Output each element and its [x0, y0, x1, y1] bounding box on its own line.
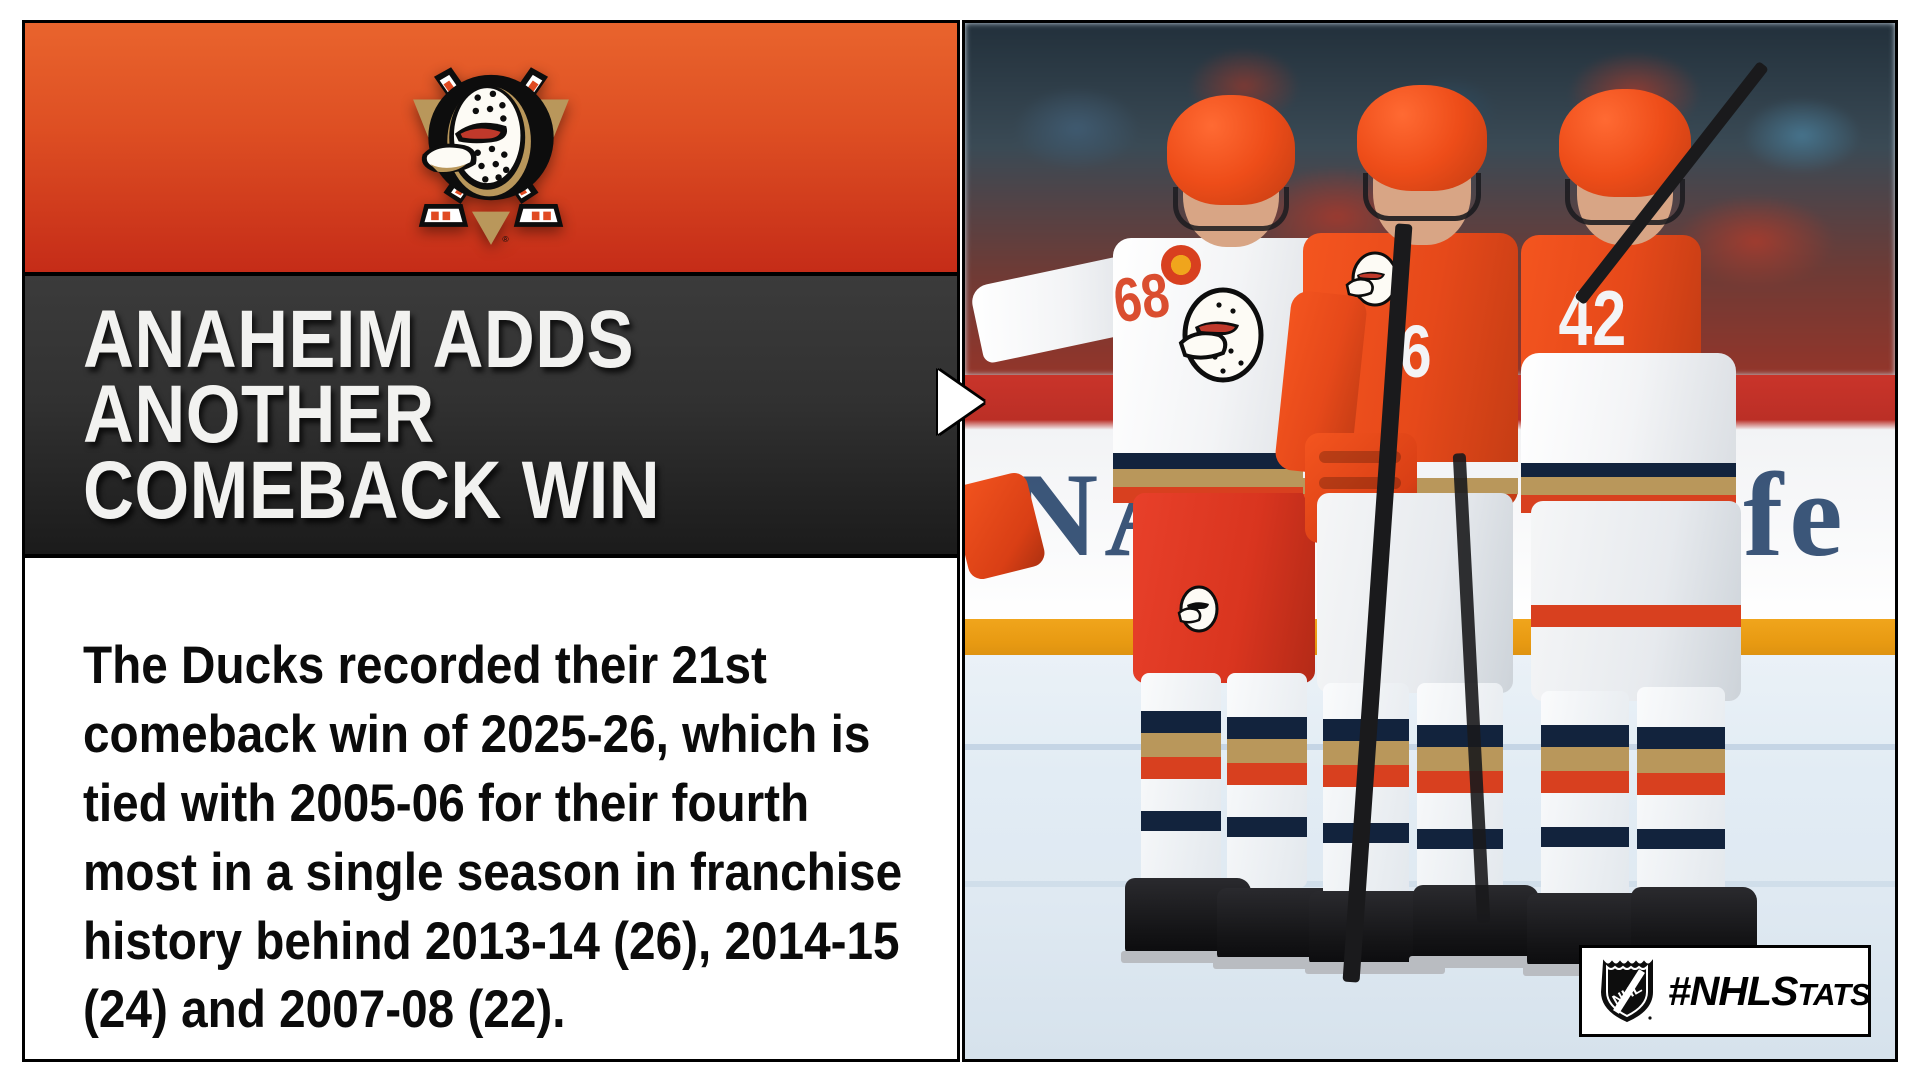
nhl-stats-graphic: ® Anaheim Adds Another Comeback Win The …	[0, 0, 1920, 1080]
stat-description: The Ducks recorded their 21st comeback w…	[83, 632, 904, 1045]
nhl-shield-icon: NHL	[1598, 958, 1656, 1024]
jersey-stripe	[1113, 469, 1333, 487]
player-left-number: 68	[1109, 260, 1174, 338]
nhl-stats-badge[interactable]: NHL #NHLSTATS	[1579, 945, 1871, 1037]
player-right-sock	[1541, 691, 1629, 901]
nhl-hashtag-text: #NHL	[1668, 968, 1771, 1014]
player-left-pants-logo	[1171, 583, 1227, 641]
headline-band: Anaheim Adds Another Comeback Win	[25, 276, 957, 558]
player-center-pants	[1317, 493, 1513, 693]
player-left-helmet	[1167, 95, 1295, 205]
stats-remaining-text: TATS	[1797, 977, 1869, 1012]
registered-trademark-mark: ®	[502, 234, 509, 244]
team-logo-header: ®	[25, 23, 957, 276]
player-left-sock	[1141, 673, 1221, 888]
player-right-pants	[1531, 501, 1741, 701]
celebration-photo: NA Life	[962, 20, 1898, 1062]
player-center-helmet	[1357, 85, 1487, 191]
play-triangle-icon[interactable]	[938, 370, 984, 434]
player-left-sock	[1227, 673, 1307, 888]
stats-capital-s: S	[1771, 968, 1797, 1014]
anaheim-ducks-logo: ®	[396, 50, 586, 245]
page-title: Anaheim Adds Another Comeback Win	[83, 302, 804, 528]
photo-scene: NA Life	[965, 23, 1895, 1059]
player-center-sock	[1417, 683, 1503, 898]
player-right-sock	[1637, 687, 1725, 897]
nhl-stats-wordmark: #NHLSTATS	[1668, 971, 1870, 1012]
left-content-panel: ® Anaheim Adds Another Comeback Win The …	[22, 20, 960, 1062]
player-left-jersey-crest	[1161, 285, 1279, 393]
player-left-shoulder-patch	[1161, 245, 1201, 285]
player-right-jersey	[1521, 353, 1736, 513]
body-text-area: The Ducks recorded their 21st comeback w…	[25, 558, 957, 1062]
